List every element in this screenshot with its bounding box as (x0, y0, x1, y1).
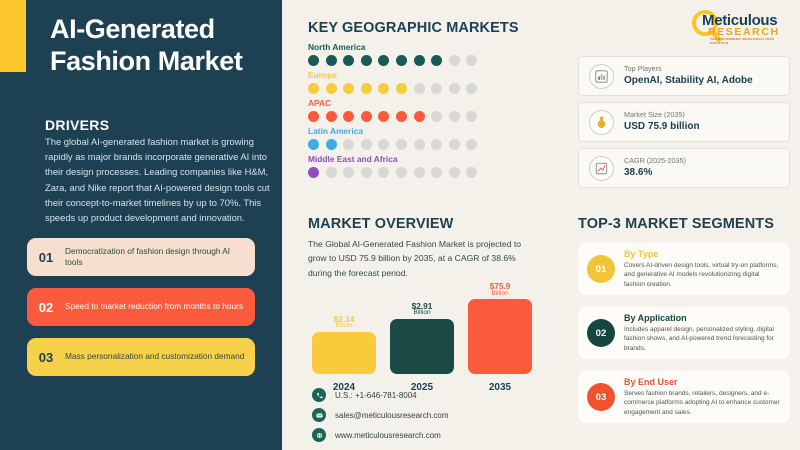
geo-dot-empty (466, 167, 477, 178)
geo-dot-filled (378, 55, 389, 66)
bar-group-2025: $2.91Billion (390, 282, 454, 374)
geo-dot-filled (326, 111, 337, 122)
segment-number: 02 (587, 319, 615, 347)
segment-description: Covers AI-driven design tools, virtual t… (624, 261, 782, 289)
segment-description: Includes apparel design, personalized st… (624, 325, 782, 353)
geo-dot-empty (361, 167, 372, 178)
segment-number: 03 (587, 383, 615, 411)
segment-title: By Application (624, 313, 782, 323)
bar-group-2035: $75.9Billion (468, 282, 532, 374)
segment-card-by-type[interactable]: 01 By Type Covers AI-driven design tools… (578, 243, 790, 295)
geo-dot-filled (414, 111, 425, 122)
geo-dot-filled (308, 55, 319, 66)
geo-dot-filled (396, 55, 407, 66)
geo-dot-empty (449, 139, 460, 150)
bar-value-label: $2.91Billion (412, 302, 433, 317)
geo-dot-filled (326, 139, 337, 150)
geo-dot-filled (396, 83, 407, 94)
bar-2024 (312, 332, 376, 374)
bar-unit: Billion (334, 323, 355, 330)
geo-dot-empty (466, 111, 477, 122)
segments-heading: TOP-3 MARKET SEGMENTS (578, 216, 774, 232)
bar-chart-icon (589, 64, 614, 89)
contact-text: www.meticulousresearch.com (335, 431, 441, 440)
bar-2035 (468, 299, 532, 374)
geo-region-label: Europe (308, 70, 558, 80)
geo-dot-empty (449, 83, 460, 94)
driver-number: 01 (27, 250, 65, 265)
market-overview-heading: MARKET OVERVIEW (308, 216, 453, 232)
medal-icon (589, 110, 614, 135)
geo-dot-empty (414, 83, 425, 94)
geo-dot-filled (326, 55, 337, 66)
geo-dots (308, 111, 558, 122)
accent-bar (0, 0, 26, 72)
drivers-body: The global AI-generated fashion market i… (45, 134, 270, 225)
segment-description: Serves fashion brands, retailers, design… (624, 389, 782, 417)
driver-label: Speed to market reduction from months to… (65, 301, 253, 312)
geo-dot-empty (431, 139, 442, 150)
bar-unit: Billion (490, 291, 511, 298)
geo-dot-empty (449, 167, 460, 178)
bar-2025 (390, 319, 454, 374)
drivers-heading: DRIVERS (45, 117, 109, 133)
geo-dot-empty (449, 111, 460, 122)
geo-dot-empty (343, 139, 354, 150)
geo-region-label: North America (308, 42, 558, 52)
geo-dot-filled (308, 83, 319, 94)
stat-label: CAGR (2025-2035) (624, 156, 686, 165)
geo-region-label: Latin America (308, 126, 558, 136)
stat-label: Top Players (624, 64, 753, 73)
geo-dot-empty (378, 167, 389, 178)
trending-up-icon (589, 156, 614, 181)
market-growth-bar-chart: $2.14Billion2024$2.91Billion2025$75.9Bil… (312, 282, 547, 374)
driver-card-3[interactable]: 03 Mass personalization and customizatio… (27, 338, 255, 376)
contact-text: sales@meticulousresearch.com (335, 411, 449, 420)
brand-logo[interactable]: Meticulous RESEARCH TRANSFORMING RESEARC… (686, 8, 790, 44)
stat-card-top-players[interactable]: Top Players OpenAI, Stability AI, Adobe (578, 56, 790, 96)
geo-dot-filled (361, 55, 372, 66)
geo-dot-empty (326, 167, 337, 178)
geo-dot-empty (414, 139, 425, 150)
geo-dot-filled (378, 83, 389, 94)
bar-category-label: 2035 (468, 382, 532, 393)
geo-dot-empty (431, 111, 442, 122)
geo-dot-filled (396, 111, 407, 122)
geo-dot-filled (361, 83, 372, 94)
geo-dot-filled (308, 167, 319, 178)
geo-dot-matrix: North AmericaEuropeAPACLatin AmericaMidd… (308, 42, 558, 182)
geo-dots (308, 83, 558, 94)
geo-dot-empty (361, 139, 372, 150)
bar-value-label: $75.9Billion (490, 282, 511, 297)
geo-dot-empty (343, 167, 354, 178)
geo-row-middle-east-and-africa: Middle East and Africa (308, 154, 558, 178)
bar-value-label: $2.14Billion (334, 315, 355, 330)
geo-dots (308, 139, 558, 150)
geo-dot-filled (326, 83, 337, 94)
geo-dot-empty (396, 139, 407, 150)
bar-group-2024: $2.14Billion (312, 282, 376, 374)
globe-icon (312, 428, 326, 442)
geo-dot-filled (343, 111, 354, 122)
bar-unit: Billion (412, 310, 433, 317)
geo-row-latin-america: Latin America (308, 126, 558, 150)
stat-value: 38.6% (624, 167, 686, 180)
driver-label: Democratization of fashion design throug… (65, 246, 255, 269)
stat-value: OpenAI, Stability AI, Adobe (624, 75, 753, 88)
driver-card-1[interactable]: 01 Democratization of fashion design thr… (27, 238, 255, 276)
geo-dot-empty (396, 167, 407, 178)
geo-dot-filled (343, 55, 354, 66)
geo-row-apac: APAC (308, 98, 558, 122)
infographic-page: AI-Generated Fashion Market DRIVERS The … (0, 0, 800, 450)
stat-label: Market Size (2035) (624, 110, 700, 119)
segment-card-by-application[interactable]: 02 By Application Includes apparel desig… (578, 307, 790, 359)
geo-dot-filled (378, 111, 389, 122)
contact-block: U.S.: +1-646-781-8004sales@meticulousres… (312, 388, 449, 448)
stat-card-market-size[interactable]: Market Size (2035) USD 75.9 billion (578, 102, 790, 142)
geo-dot-empty (466, 83, 477, 94)
geo-region-label: Middle East and Africa (308, 154, 558, 164)
geo-dot-filled (343, 83, 354, 94)
geo-dot-filled (431, 55, 442, 66)
phone-icon (312, 388, 326, 402)
segment-title: By Type (624, 249, 782, 259)
segment-card-by-end-user[interactable]: 03 By End User Serves fashion brands, re… (578, 371, 790, 423)
geo-dots (308, 55, 558, 66)
geo-row-europe: Europe (308, 70, 558, 94)
geo-dot-filled (308, 111, 319, 122)
driver-card-2[interactable]: 02 Speed to market reduction from months… (27, 288, 255, 326)
driver-number: 02 (27, 300, 65, 315)
geo-row-north-america: North America (308, 42, 558, 66)
segment-number: 01 (587, 255, 615, 283)
geo-dot-empty (466, 55, 477, 66)
contact-row-globe[interactable]: www.meticulousresearch.com (312, 428, 449, 442)
geo-dot-filled (308, 139, 319, 150)
stat-value: USD 75.9 billion (624, 121, 700, 134)
geo-dot-empty (466, 139, 477, 150)
mail-icon (312, 408, 326, 422)
segment-title: By End User (624, 377, 782, 387)
market-overview-body: The Global AI-Generated Fashion Market i… (308, 237, 540, 280)
contact-row-mail[interactable]: sales@meticulousresearch.com (312, 408, 449, 422)
geo-section-heading: KEY GEOGRAPHIC MARKETS (308, 20, 519, 36)
contact-text: U.S.: +1-646-781-8004 (335, 391, 417, 400)
geo-dot-empty (431, 83, 442, 94)
driver-number: 03 (27, 350, 65, 365)
stat-card-cagr[interactable]: CAGR (2025-2035) 38.6% (578, 148, 790, 188)
geo-dot-empty (431, 167, 442, 178)
geo-dot-filled (361, 111, 372, 122)
geo-dot-empty (449, 55, 460, 66)
contact-row-phone[interactable]: U.S.: +1-646-781-8004 (312, 388, 449, 402)
page-title: AI-Generated Fashion Market (50, 14, 268, 78)
geo-region-label: APAC (308, 98, 558, 108)
geo-dot-filled (414, 55, 425, 66)
logo-tagline: TRANSFORMING RESEARCH INTO INSIGHTS (710, 37, 790, 45)
geo-dots (308, 167, 558, 178)
geo-dot-empty (378, 139, 389, 150)
geo-dot-empty (414, 167, 425, 178)
driver-label: Mass personalization and customization d… (65, 351, 254, 362)
